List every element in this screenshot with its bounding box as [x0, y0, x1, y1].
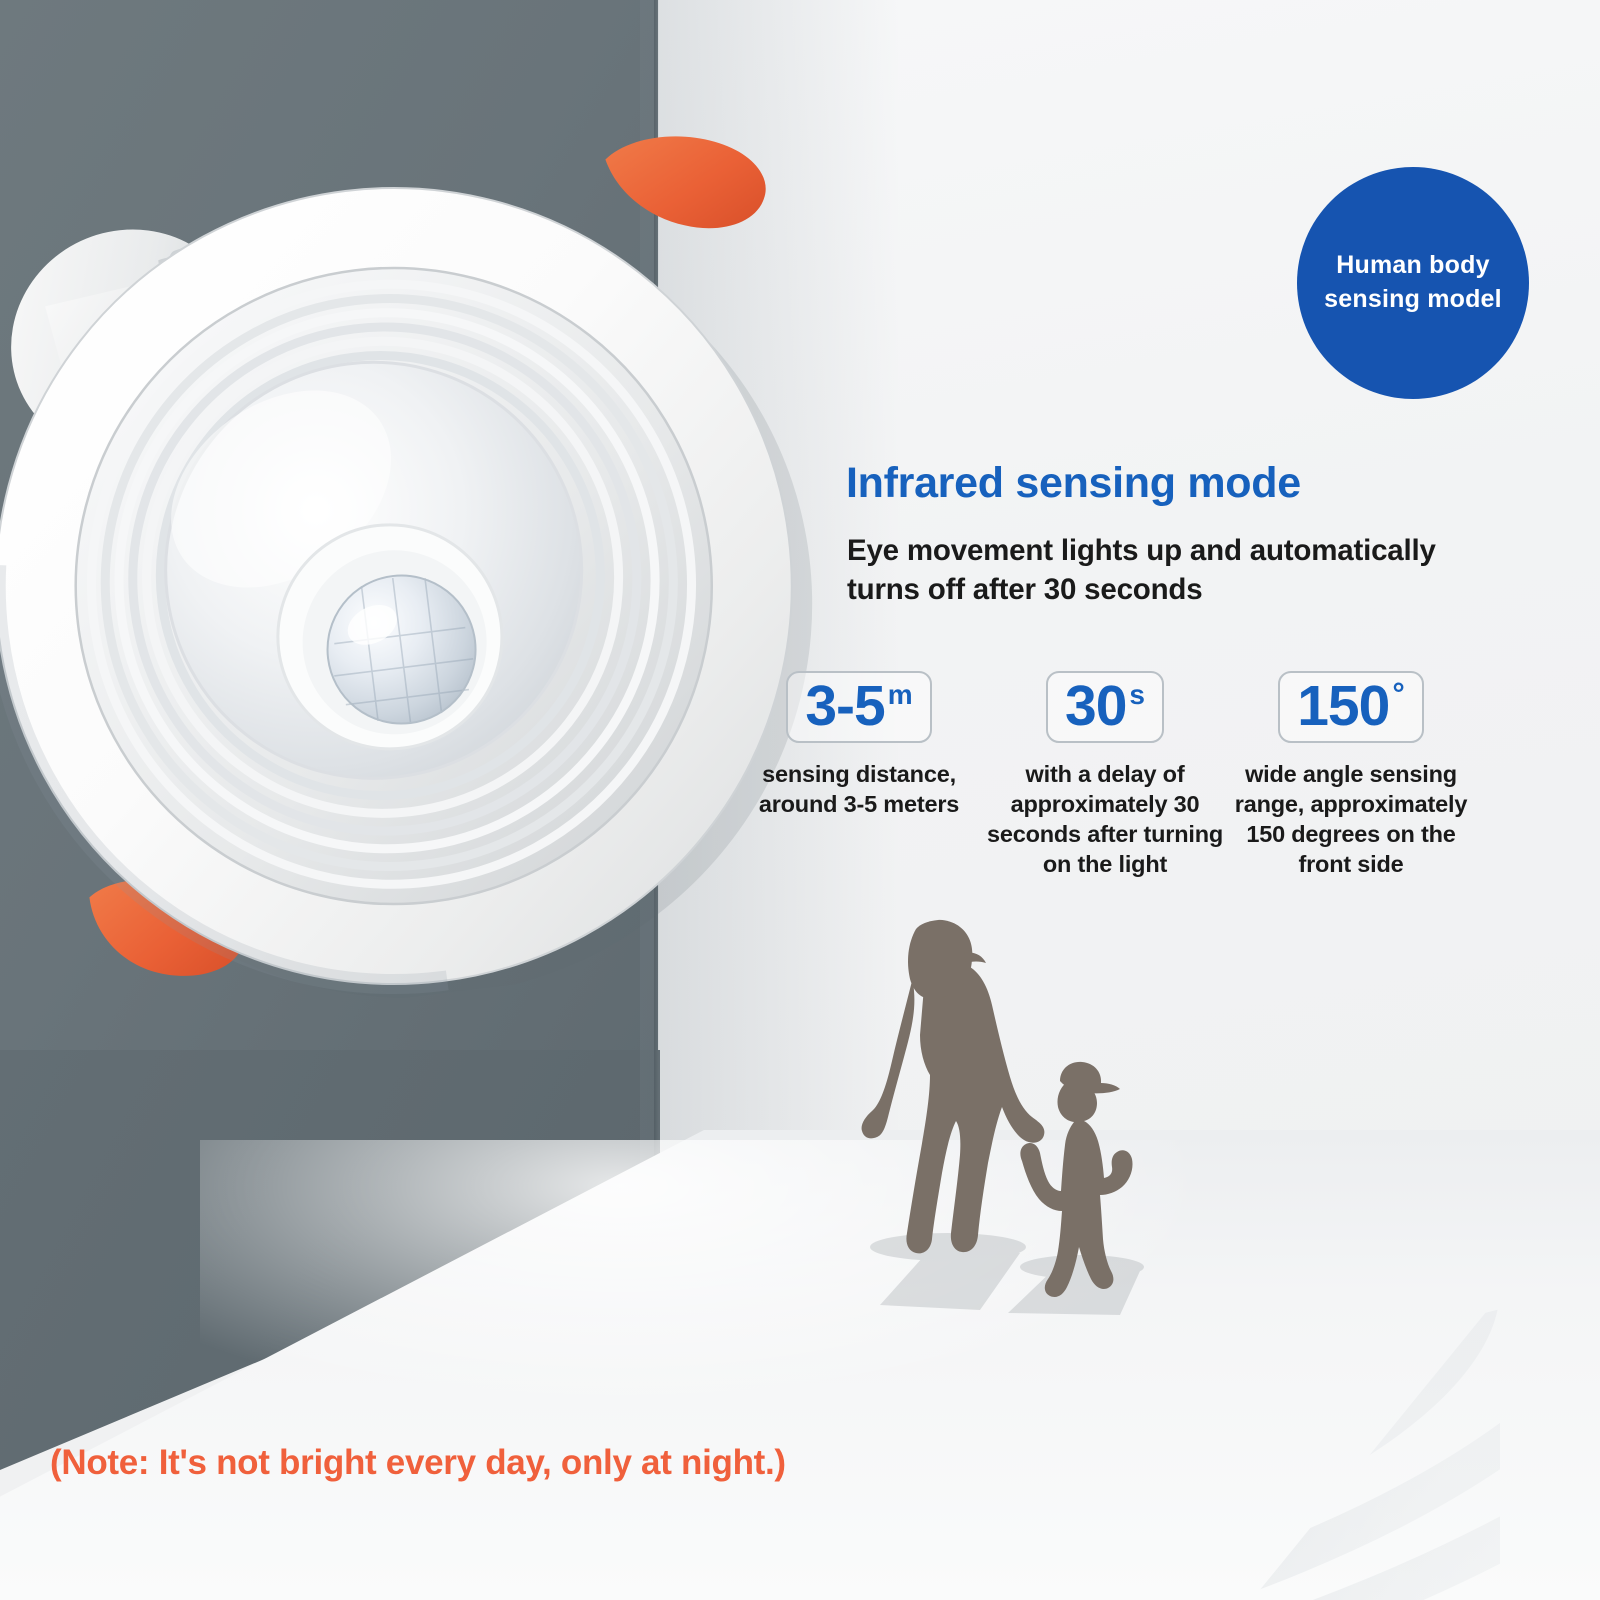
spec-unit-angle: ° — [1392, 678, 1404, 709]
downlight-svg — [0, 65, 890, 1046]
spring-clip-top — [598, 121, 774, 245]
footer-note: (Note: It's not bright every day, only a… — [50, 1443, 786, 1483]
spec-unit-distance: m — [888, 681, 913, 709]
spec-column-angle: 150 ° wide angle sensing range, approxim… — [1228, 671, 1474, 879]
spec-badge-distance: 3-5 m — [786, 671, 931, 743]
spec-caption-distance: sensing distance, around 3-5 meters — [740, 759, 978, 819]
infographic-canvas: Human body sensing model Infrared sensin… — [0, 0, 1600, 1600]
spec-value-distance: 3-5 — [805, 677, 884, 735]
human-body-sensing-badge: Human body sensing model — [1297, 167, 1529, 399]
section-headline: Infrared sensing mode — [846, 459, 1301, 508]
spec-unit-delay: s — [1129, 681, 1145, 709]
section-subheadline: Eye movement lights up and automatically… — [847, 532, 1487, 610]
badge-line-2: sensing model — [1312, 283, 1514, 317]
spec-column-delay: 30 s with a delay of approximately 30 se… — [982, 671, 1228, 879]
spec-column-distance: 3-5 m sensing distance, around 3-5 meter… — [736, 671, 982, 819]
badge-line-1: Human body — [1312, 249, 1514, 283]
spec-badge-delay: 30 s — [1046, 671, 1164, 743]
spec-caption-angle: wide angle sensing range, approximately … — [1232, 759, 1470, 879]
spec-value-delay: 30 — [1065, 677, 1126, 735]
spec-badges-row: 3-5 m sensing distance, around 3-5 meter… — [736, 671, 1476, 879]
spec-value-angle: 150 — [1297, 677, 1389, 735]
led-downlight-product — [0, 65, 890, 1046]
spec-caption-delay: with a delay of approximately 30 seconds… — [986, 759, 1224, 879]
spec-badge-angle: 150 ° — [1278, 671, 1424, 743]
